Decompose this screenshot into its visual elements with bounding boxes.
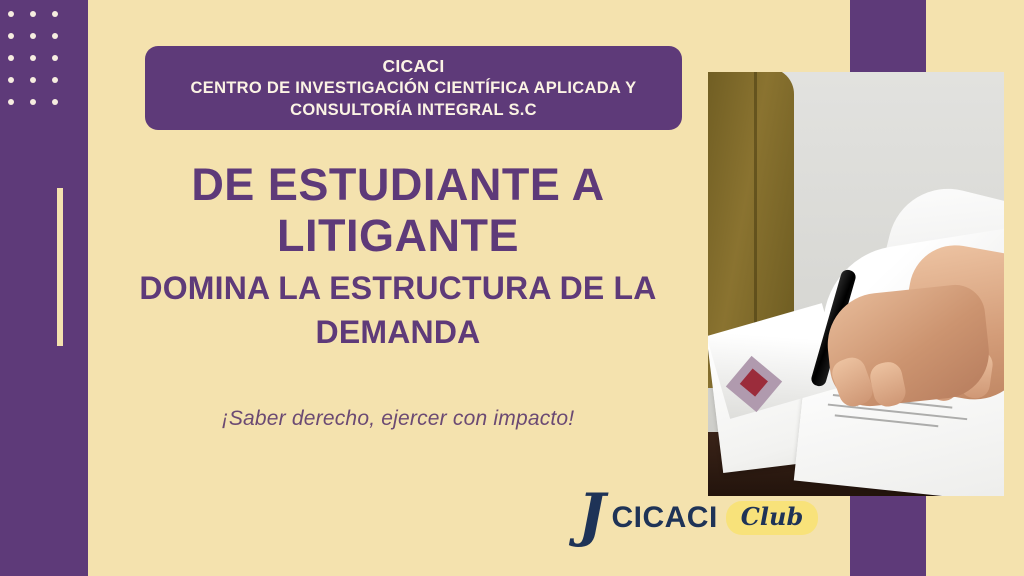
decorative-dot xyxy=(52,11,58,17)
subheadline-line-2: DEMANDA xyxy=(88,314,708,351)
decorative-dot xyxy=(8,33,14,39)
decorative-dot xyxy=(30,55,36,61)
decorative-dot xyxy=(52,55,58,61)
photo-finger xyxy=(868,359,908,409)
decorative-dot xyxy=(52,77,58,83)
decorative-dot xyxy=(30,77,36,83)
logo-monogram-icon: J xyxy=(578,492,605,538)
decorative-dot xyxy=(30,33,36,39)
logo-club-badge: Club xyxy=(726,501,818,535)
banner-name-line-2: CONSULTORÍA INTEGRAL S.C xyxy=(290,100,537,122)
cicaci-club-logo: J CICACI Club xyxy=(578,498,818,538)
banner-name-line-1: CENTRO DE INVESTIGACIÓN CIENTÍFICA APLIC… xyxy=(191,78,637,100)
decorative-dot xyxy=(8,55,14,61)
headline-line-1: DE ESTUDIANTE A xyxy=(88,160,708,211)
signing-documents-photo xyxy=(708,72,1004,496)
main-content-block: DE ESTUDIANTE A LITIGANTE DOMINA LA ESTR… xyxy=(88,160,708,431)
subheadline-line-1: DOMINA LA ESTRUCTURA DE LA xyxy=(88,270,708,307)
decorative-dot xyxy=(8,11,14,17)
headline-line-2: LITIGANTE xyxy=(88,211,708,262)
decorative-dot xyxy=(30,99,36,105)
poster-canvas: CICACI CENTRO DE INVESTIGACIÓN CIENTÍFIC… xyxy=(0,0,1024,576)
decorative-dot xyxy=(52,99,58,105)
decorative-dot xyxy=(8,99,14,105)
organization-banner: CICACI CENTRO DE INVESTIGACIÓN CIENTÍFIC… xyxy=(145,46,682,130)
left-decorative-band xyxy=(0,0,88,576)
photo-doc-text-line xyxy=(835,414,939,427)
logo-wordmark: CICACI xyxy=(611,501,717,535)
dot-grid-decoration xyxy=(0,0,68,118)
left-accent-bar xyxy=(57,188,63,346)
banner-acronym: CICACI xyxy=(382,55,444,78)
decorative-dot xyxy=(8,77,14,83)
decorative-dot xyxy=(52,33,58,39)
decorative-dot xyxy=(30,11,36,17)
tagline: ¡Saber derecho, ejercer con impacto! xyxy=(88,407,708,431)
